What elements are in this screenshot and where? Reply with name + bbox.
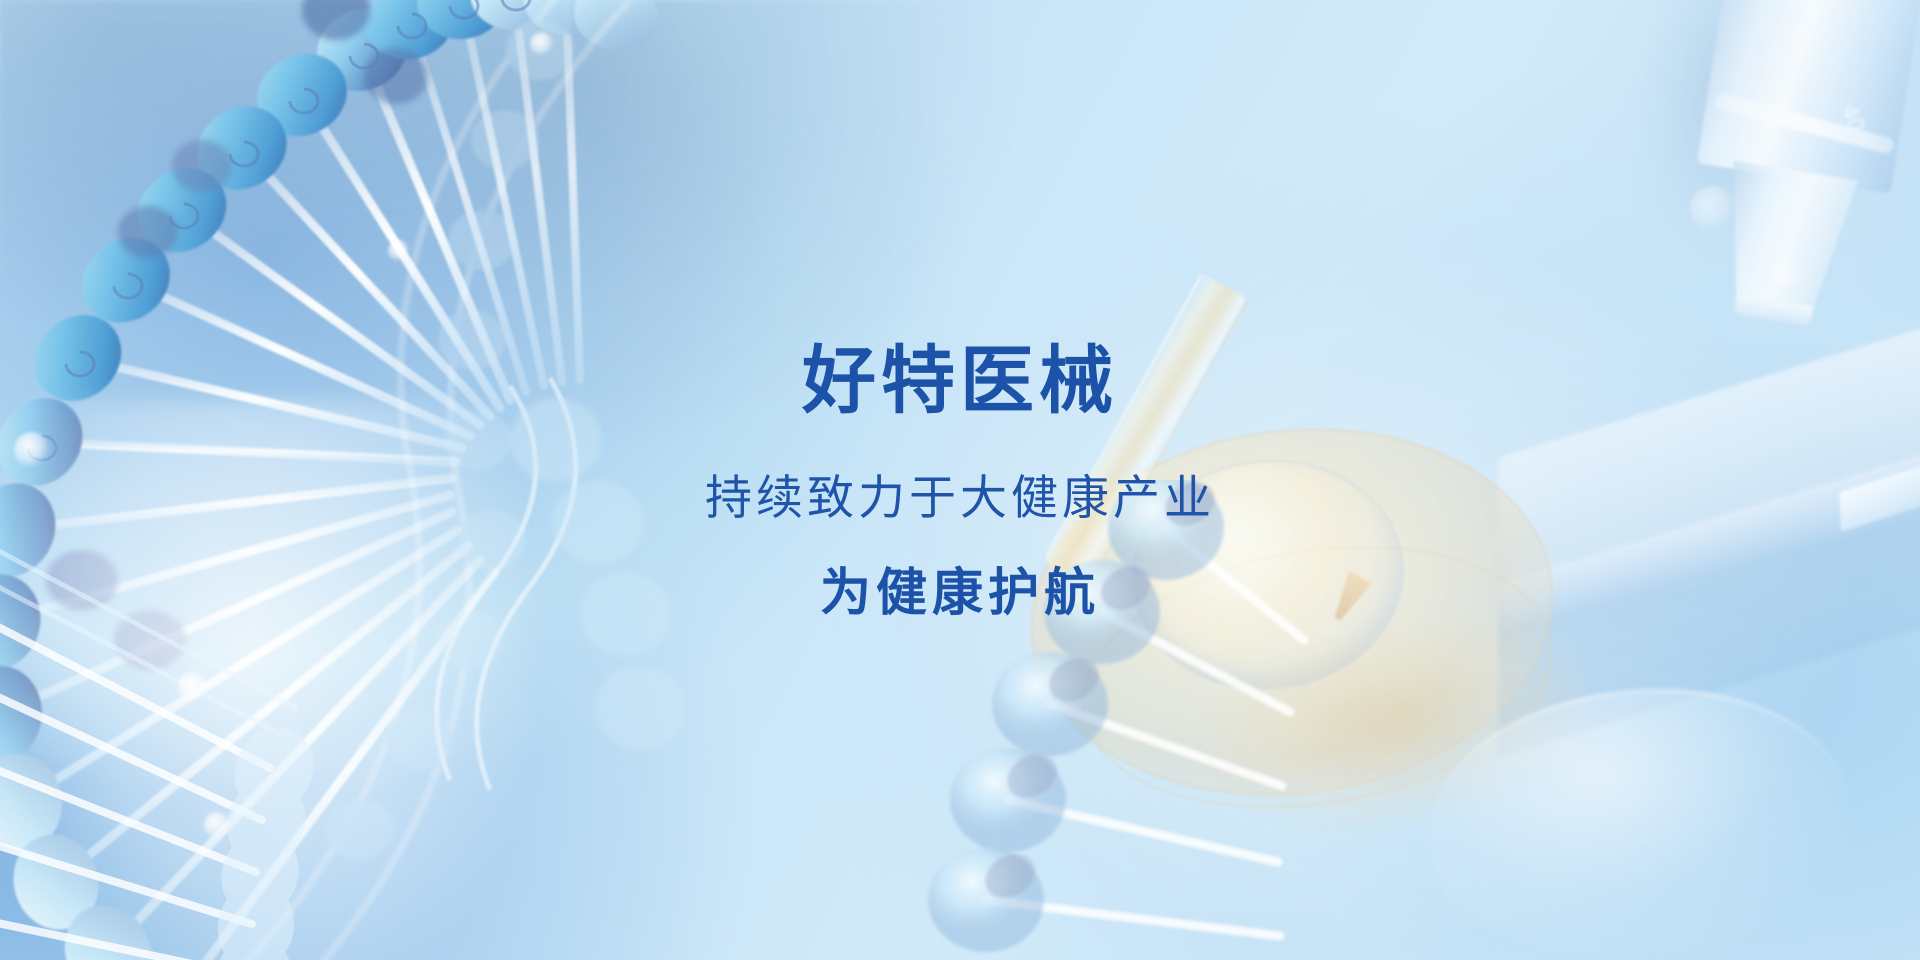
bokeh-dot	[530, 32, 554, 56]
brand-subtitle: 持续致力于大健康产业	[0, 474, 1920, 521]
brand-slogan: 为健康护航	[0, 567, 1920, 618]
hero-banner: 40	[0, 0, 1920, 960]
bokeh-dot	[1772, 262, 1802, 292]
bokeh-dot	[1690, 186, 1736, 232]
bokeh-dot	[178, 672, 208, 702]
brand-title: 好特医械	[0, 344, 1920, 418]
bokeh-dot	[388, 240, 410, 262]
bokeh-dot	[204, 812, 230, 838]
hero-copy: 好特医械 持续致力于大健康产业 为健康护航	[0, 344, 1920, 618]
